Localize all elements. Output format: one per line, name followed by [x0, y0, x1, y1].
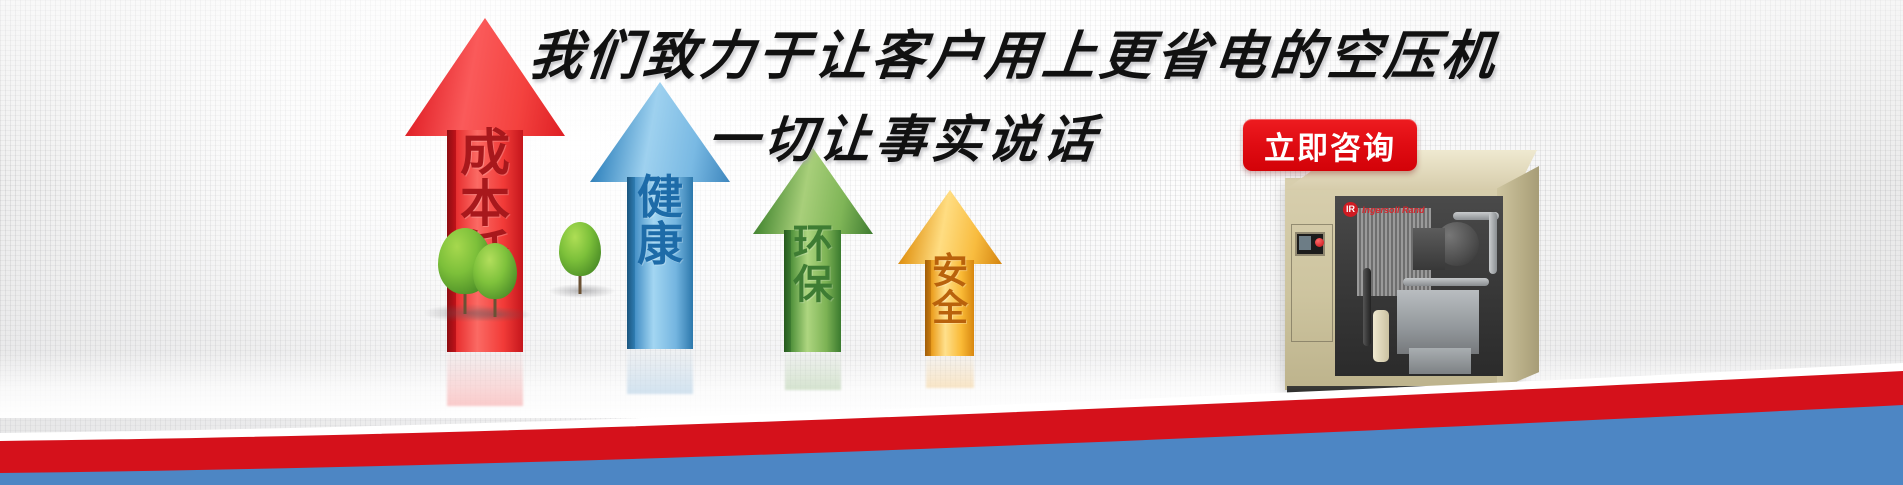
ir-logo-mark: IR: [1343, 202, 1358, 217]
arrow-health-label: 健 康: [637, 174, 683, 268]
headline-line-1: 我们致力于让客户用上更省电的空压机: [526, 14, 1434, 90]
arrow-cost-char-2: 本: [460, 179, 510, 230]
compressor-pipe-lower: [1403, 278, 1489, 286]
consult-now-button[interactable]: 立即咨询: [1243, 119, 1417, 171]
arrow-eco-label: 环 保: [793, 224, 833, 306]
compressor-pipe-right: [1489, 212, 1497, 274]
arrow-health-char-1: 健: [637, 174, 683, 221]
bottom-swoosh-bands: [0, 315, 1903, 485]
tree-small-crown: [473, 243, 517, 299]
promo-banner: 成 本 低 健 康 环 保: [0, 0, 1903, 485]
arrow-cost-char-1: 成: [460, 128, 510, 179]
arrow-safety-char-1: 安: [932, 254, 968, 291]
arrow-health-char-2: 康: [637, 221, 683, 268]
arrow-eco-char-2: 保: [793, 265, 833, 306]
tree-small: [471, 243, 519, 321]
ir-logo-text: Ingersoll Rand: [1362, 205, 1425, 215]
compressor-brand-logo: IR Ingersoll Rand: [1343, 202, 1425, 217]
compressor-motor-housing: [1413, 228, 1445, 270]
arrow-eco-char-1: 环: [793, 224, 833, 265]
